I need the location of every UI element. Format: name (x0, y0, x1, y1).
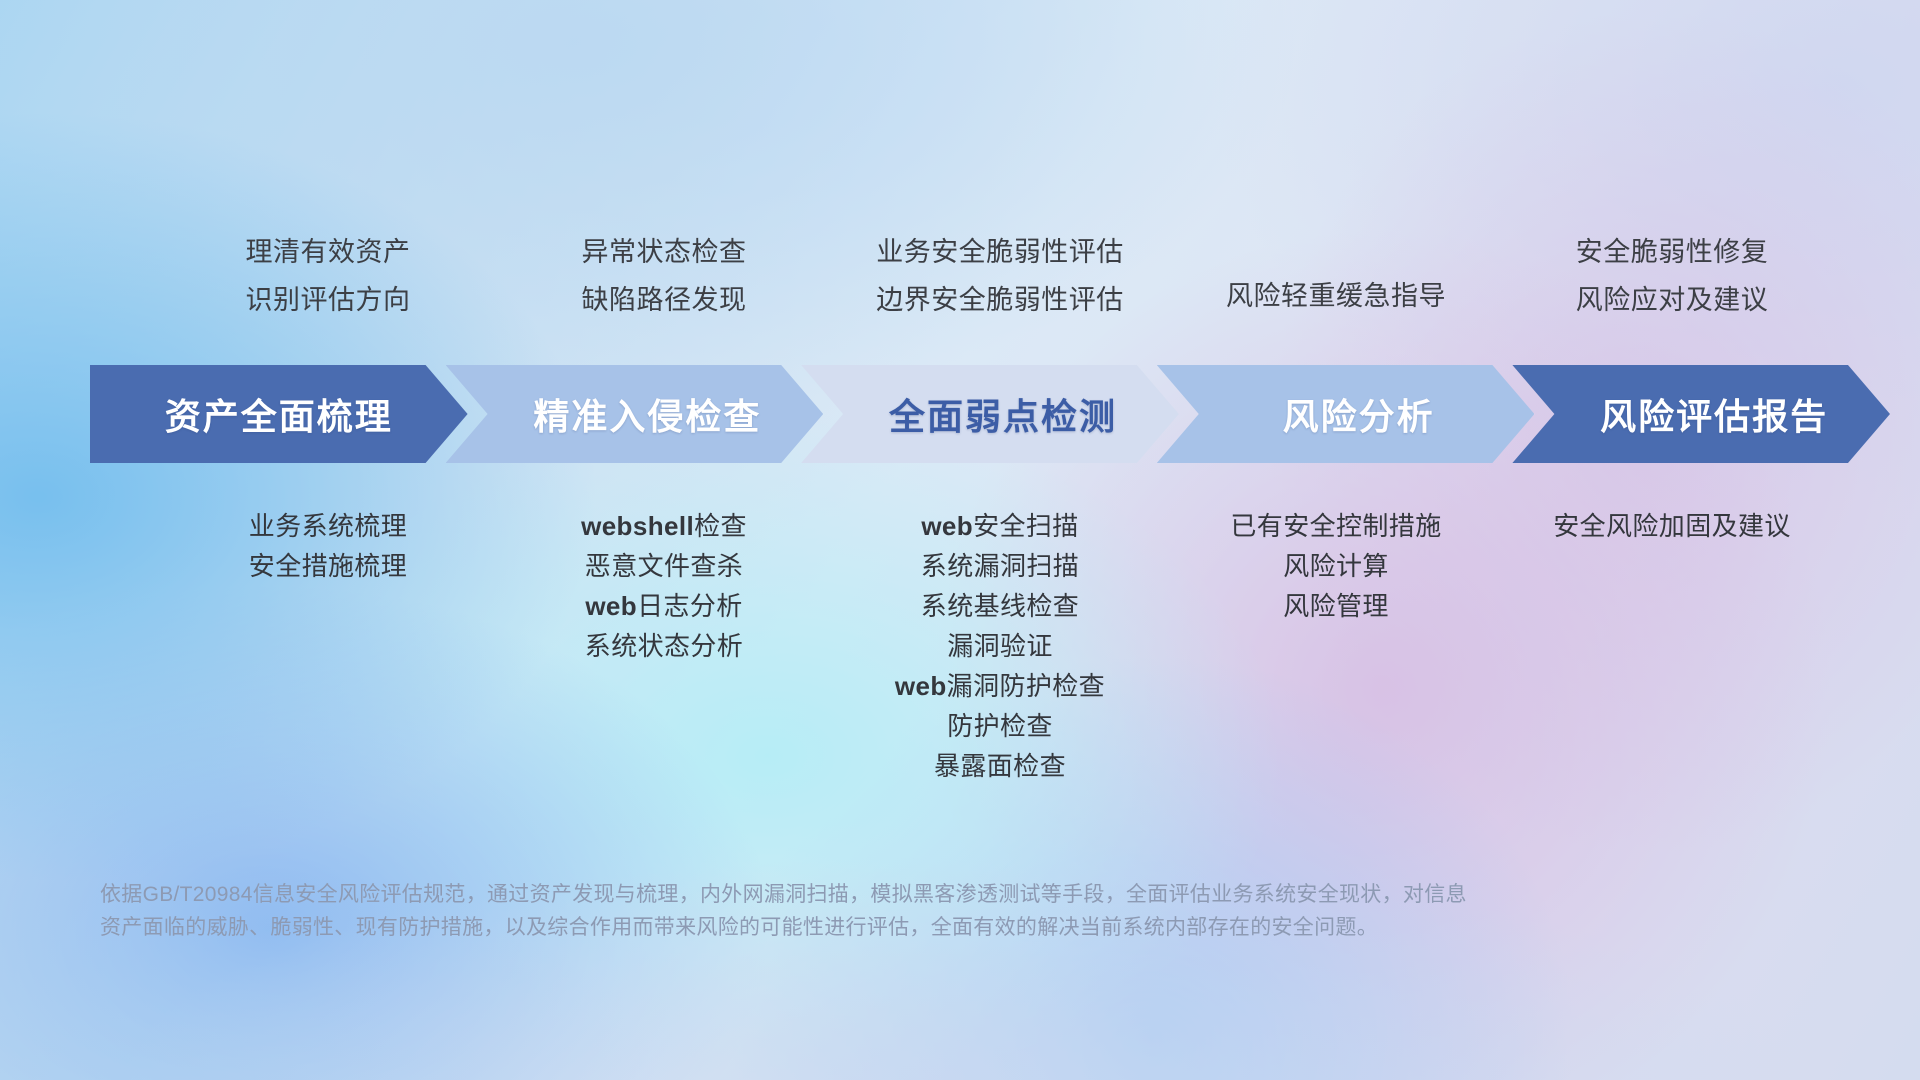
bottom-item: 漏洞验证 (832, 626, 1168, 666)
bottom-item-label: 防护检查 (947, 711, 1053, 741)
bottom-item: web日志分析 (496, 586, 832, 626)
bottom-item: 已有安全控制措施 (1168, 506, 1504, 546)
stage-chevron-risk-analysis[interactable]: 风险分析 (1157, 365, 1535, 463)
stage-chevron-asset-inventory[interactable]: 资产全面梳理 (90, 365, 468, 463)
top-item: 业务安全脆弱性评估 (832, 228, 1168, 276)
bottom-col-weakness-detection: web安全扫描系统漏洞扫描系统基线检查漏洞验证web漏洞防护检查防护检查暴露面检… (832, 506, 1168, 786)
bottom-item-label: 暴露面检查 (934, 751, 1066, 781)
footer-line-2: 资产面临的威胁、脆弱性、现有防护措施，以及综合作用而带来风险的可能性进行评估，全… (100, 911, 1630, 944)
bottom-item: 风险管理 (1168, 586, 1504, 626)
top-item: 识别评估方向 (160, 276, 496, 324)
bottom-item: webshell检查 (496, 506, 832, 546)
bottom-col-intrusion-check: webshell检查恶意文件查杀web日志分析系统状态分析 (496, 506, 832, 786)
bottom-item-label: 业务系统梳理 (249, 511, 407, 541)
bottom-item: 系统漏洞扫描 (832, 546, 1168, 586)
bottom-item: 系统基线检查 (832, 586, 1168, 626)
bottom-item-prefix: web (921, 511, 973, 541)
top-item: 缺陷路径发现 (496, 276, 832, 324)
bottom-col-assessment-report: 安全风险加固及建议 (1504, 506, 1840, 786)
bottom-item-label: 安全风险加固及建议 (1553, 511, 1791, 541)
top-col-intrusion-check: 异常状态检查缺陷路径发现 (496, 228, 832, 324)
bottom-item: 系统状态分析 (496, 626, 832, 666)
top-col-asset-inventory: 理清有效资产识别评估方向 (160, 228, 496, 324)
top-descriptions-row: 理清有效资产识别评估方向 异常状态检查缺陷路径发现 业务安全脆弱性评估边界安全脆… (0, 228, 1920, 324)
bottom-item-label: 漏洞防护检查 (947, 671, 1105, 701)
bottom-col-asset-inventory: 业务系统梳理安全措施梳理 (160, 506, 496, 786)
stage-chevron-assessment-report[interactable]: 风险评估报告 (1512, 365, 1890, 463)
bottom-col-risk-analysis: 已有安全控制措施风险计算风险管理 (1168, 506, 1504, 786)
bottom-item-label: 安全措施梳理 (249, 551, 407, 581)
top-item: 异常状态检查 (496, 228, 832, 276)
bottom-item: 暴露面检查 (832, 746, 1168, 786)
bottom-item-prefix: webshell (581, 511, 694, 541)
stage-chevron-intrusion-check[interactable]: 精准入侵检查 (446, 365, 824, 463)
bottom-item: 安全风险加固及建议 (1504, 506, 1840, 546)
bottom-item-label: 风险管理 (1283, 591, 1389, 621)
grid-gutter-left (0, 228, 160, 324)
bottom-item-label: 系统基线检查 (921, 591, 1079, 621)
bottom-item-label: 已有安全控制措施 (1230, 511, 1441, 541)
bottom-item-label: 系统漏洞扫描 (921, 551, 1079, 581)
bottom-item-prefix: web (585, 591, 637, 621)
top-col-assessment-report: 安全脆弱性修复风险应对及建议 (1504, 228, 1840, 324)
bottom-item: 风险计算 (1168, 546, 1504, 586)
footer-line-1: 依据GB/T20984信息安全风险评估规范，通过资产发现与梳理，内外网漏洞扫描，… (100, 878, 1630, 911)
bottom-item-label: 漏洞验证 (947, 631, 1053, 661)
bottom-item: 恶意文件查杀 (496, 546, 832, 586)
bottom-item-label: 安全扫描 (973, 511, 1079, 541)
bottom-item-prefix: web (895, 671, 947, 701)
footer-note: 依据GB/T20984信息安全风险评估规范，通过资产发现与梳理，内外网漏洞扫描，… (100, 878, 1630, 944)
grid-gutter-right (1840, 228, 1920, 324)
bottom-details-row: 业务系统梳理安全措施梳理 webshell检查恶意文件查杀web日志分析系统状态… (0, 506, 1920, 786)
bottom-item: web安全扫描 (832, 506, 1168, 546)
stage-chevron-weakness-detection[interactable]: 全面弱点检测 (801, 365, 1179, 463)
bottom-item: 防护检查 (832, 706, 1168, 746)
stage-chevron-label: 资产全面梳理 (165, 388, 393, 440)
stage-chevron-label: 风险分析 (1257, 388, 1435, 440)
grid-gutter-left-2 (0, 506, 160, 786)
grid-gutter-right-2 (1840, 506, 1920, 786)
bottom-item: 业务系统梳理 (160, 506, 496, 546)
bottom-item-label: 检查 (694, 511, 747, 541)
bottom-item-label: 系统状态分析 (585, 631, 743, 661)
bottom-item-label: 风险计算 (1283, 551, 1389, 581)
stage-chevron-label: 精准入侵检查 (507, 388, 761, 440)
top-item: 边界安全脆弱性评估 (832, 276, 1168, 324)
stage-chevron-label: 风险评估报告 (1574, 388, 1828, 440)
top-item: 理清有效资产 (160, 228, 496, 276)
top-col-risk-analysis: 风险轻重缓急指导 (1168, 228, 1504, 324)
stage-chevron-band: 资产全面梳理精准入侵检查全面弱点检测风险分析风险评估报告 (90, 365, 1890, 463)
stage-chevron-label: 全面弱点检测 (863, 388, 1117, 440)
bottom-item-label: 恶意文件查杀 (585, 551, 743, 581)
top-item: 风险应对及建议 (1504, 276, 1840, 324)
top-col-weakness-detection: 业务安全脆弱性评估边界安全脆弱性评估 (832, 228, 1168, 324)
top-item: 安全脆弱性修复 (1504, 228, 1840, 276)
process-diagram: 理清有效资产识别评估方向 异常状态检查缺陷路径发现 业务安全脆弱性评估边界安全脆… (0, 0, 1920, 1080)
bottom-item: web漏洞防护检查 (832, 666, 1168, 706)
top-item: 风险轻重缓急指导 (1168, 272, 1504, 320)
bottom-item-label: 日志分析 (637, 591, 743, 621)
bottom-item: 安全措施梳理 (160, 546, 496, 586)
